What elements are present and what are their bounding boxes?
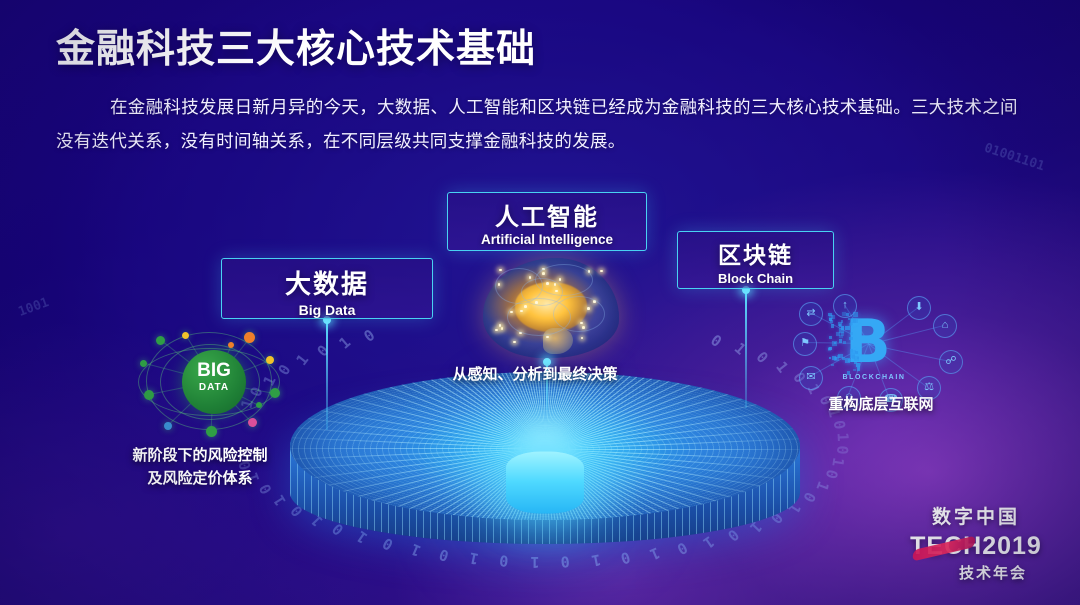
event-logo: 数字中国 TECH2019 技术年会 bbox=[906, 502, 1046, 583]
pillar-card-ai[interactable]: 人工智能 Artificial Intelligence bbox=[447, 192, 647, 251]
big-data-node bbox=[248, 418, 257, 427]
pillar-card-blockchain[interactable]: 区块链 Block Chain bbox=[677, 231, 834, 289]
pillar-title-cn-ai: 人工智能 bbox=[448, 197, 646, 232]
binary-digit: 1 bbox=[829, 456, 848, 468]
big-data-node bbox=[228, 342, 234, 348]
blockchain-pixel bbox=[848, 318, 850, 320]
blockchain-pixel bbox=[847, 371, 850, 374]
big-data-node bbox=[206, 426, 217, 437]
blockchain-pixel bbox=[850, 322, 853, 325]
blockchain-pixel bbox=[832, 341, 837, 346]
big-data-node bbox=[182, 332, 189, 339]
pillar-title-cn-blockchain: 区块链 bbox=[678, 236, 833, 270]
pillar-caption-bigdata-line1: 新阶段下的风险控制 bbox=[92, 444, 308, 467]
blockchain-pixel bbox=[857, 367, 861, 371]
blockchain-pixel bbox=[829, 315, 833, 319]
binary-digit: 1 bbox=[336, 333, 355, 353]
binary-digit: 1 bbox=[731, 339, 750, 359]
disc-core bbox=[506, 452, 584, 514]
blockchain-b-icon: B BLOCKCHAIN ⇄↑⬇⌂☍⚖☎☺✉⚑ bbox=[793, 300, 945, 400]
blockchain-pixel bbox=[848, 359, 851, 362]
blockchain-pixel bbox=[850, 332, 853, 335]
brain-spark bbox=[499, 269, 502, 272]
blockchain-satellite-icon: ⚑ bbox=[793, 332, 817, 356]
brain-spark bbox=[600, 270, 603, 273]
binary-digit: 1 bbox=[270, 491, 290, 508]
blockchain-pixel bbox=[831, 324, 835, 328]
logo-line-2: TECH2019 bbox=[906, 532, 1046, 561]
blockchain-pixel bbox=[829, 336, 832, 339]
binary-digit: 0 bbox=[752, 348, 771, 367]
binary-digit: 1 bbox=[292, 351, 312, 369]
blockchain-pixel bbox=[855, 351, 858, 354]
blockchain-satellite-icon: ⌂ bbox=[933, 314, 957, 338]
glowing-brain-icon bbox=[481, 252, 621, 364]
blockchain-pixel bbox=[829, 357, 832, 360]
binary-digit: 0 bbox=[361, 326, 379, 346]
blockchain-pixel bbox=[839, 324, 841, 326]
blockchain-pixel bbox=[854, 362, 857, 365]
binary-digit: 0 bbox=[313, 342, 332, 361]
big-data-sub-text: DATA bbox=[182, 382, 246, 393]
binary-digit: 1 bbox=[812, 479, 832, 494]
blockchain-label: BLOCKCHAIN bbox=[831, 374, 917, 381]
cyan-connector-line-blockchain bbox=[745, 290, 747, 408]
pillar-caption-blockchain: 重构底层互联网 bbox=[788, 393, 974, 414]
blockchain-satellite-icon: ⬇ bbox=[907, 296, 931, 320]
pillar-title-en-ai: Artificial Intelligence bbox=[448, 232, 646, 247]
binary-digit: 0 bbox=[830, 419, 849, 431]
logo-line-3: 技术年会 bbox=[940, 562, 1046, 583]
blockchain-pixel bbox=[854, 356, 859, 361]
page-title: 金融科技三大核心技术基础 bbox=[56, 18, 536, 74]
blockchain-satellite-icon: ⇄ bbox=[799, 302, 823, 326]
blockchain-pixel bbox=[845, 326, 849, 330]
blockchain-pixel bbox=[842, 357, 845, 360]
blockchain-pixel bbox=[842, 312, 845, 315]
pillar-title-cn-bigdata: 大数据 bbox=[222, 264, 432, 301]
blockchain-pixel bbox=[843, 341, 846, 344]
big-data-node bbox=[156, 336, 165, 345]
big-data-main-text: BIG bbox=[182, 362, 246, 380]
big-data-node bbox=[256, 402, 262, 408]
binary-digit: 0 bbox=[833, 445, 851, 455]
big-data-node bbox=[140, 360, 147, 367]
blockchain-pixel bbox=[828, 348, 830, 350]
blockchain-satellite-icon: ☍ bbox=[939, 350, 963, 374]
central-platform-disc bbox=[290, 372, 800, 572]
binary-digit: 0 bbox=[707, 331, 725, 351]
binary-digit: 1 bbox=[833, 432, 851, 442]
blockchain-pixel bbox=[831, 364, 834, 367]
blockchain-pixel bbox=[853, 369, 856, 372]
pillar-title-en-blockchain: Block Chain bbox=[678, 271, 833, 286]
pillar-caption-ai: 从感知、分析到最终决策 bbox=[420, 363, 650, 384]
pillar-card-bigdata[interactable]: 大数据 Big Data bbox=[221, 258, 433, 319]
blockchain-pixel bbox=[836, 332, 840, 336]
binary-digit: 0 bbox=[799, 489, 819, 505]
big-data-node bbox=[144, 390, 154, 400]
pillar-title-en-bigdata: Big Data bbox=[222, 302, 432, 318]
big-data-network-icon: BIG DATA bbox=[136, 326, 284, 438]
pillar-caption-bigdata-line2: 及风险定价体系 bbox=[92, 467, 308, 490]
logo-line-1: 数字中国 bbox=[906, 502, 1046, 529]
big-data-node bbox=[164, 422, 172, 430]
brain-fold bbox=[521, 278, 563, 306]
blockchain-pixel bbox=[835, 357, 838, 360]
brain-fold bbox=[553, 296, 605, 332]
big-data-node bbox=[270, 388, 280, 398]
blockchain-pixel bbox=[830, 320, 833, 323]
big-data-node bbox=[244, 332, 255, 343]
blockchain-pixel bbox=[853, 312, 858, 317]
big-data-node bbox=[266, 356, 274, 364]
blockchain-pixel bbox=[853, 319, 857, 323]
blockchain-pixel bbox=[846, 313, 849, 316]
blockchain-pixel bbox=[849, 337, 852, 340]
binary-decor-left: 1001 bbox=[16, 295, 51, 320]
blockchain-satellite-icon: ✉ bbox=[799, 366, 823, 390]
binary-digit: 0 bbox=[822, 468, 842, 481]
blockchain-pixel bbox=[838, 354, 842, 358]
slide-root: 01001101 1001 金融科技三大核心技术基础 在金融科技发展日新月异的今… bbox=[0, 0, 1080, 605]
big-data-sphere: BIG DATA bbox=[182, 350, 246, 414]
blockchain-pixel bbox=[839, 339, 843, 343]
intro-paragraph: 在金融科技发展日新月异的今天，大数据、人工智能和区块链已经成为金融科技的三大核心… bbox=[56, 90, 1024, 158]
cyan-connector-line-bigdata bbox=[326, 320, 328, 430]
pillar-caption-bigdata: 新阶段下的风险控制 及风险定价体系 bbox=[92, 444, 308, 490]
